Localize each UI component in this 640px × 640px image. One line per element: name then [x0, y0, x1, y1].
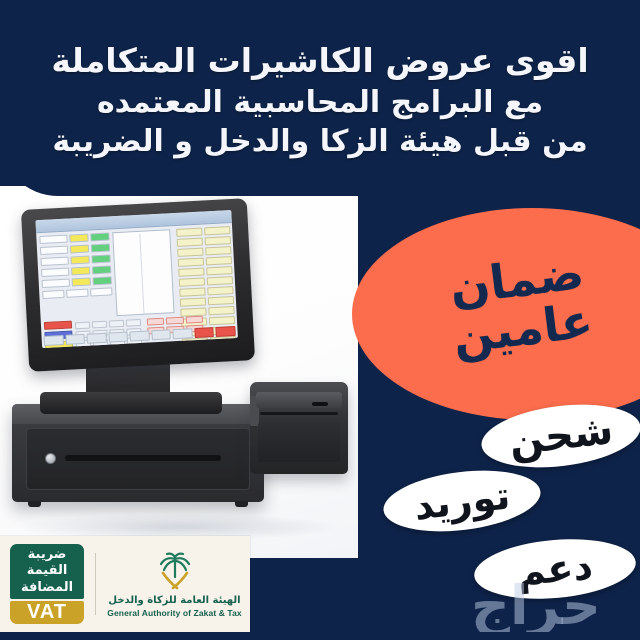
service-badge-shipping-label: شحن [507, 407, 616, 465]
pos-touchscreen-terminal [21, 198, 255, 372]
site-watermark: حراج [432, 576, 640, 634]
bottom-strip [0, 632, 640, 640]
vat-zatca-card: ضريبة القيمة المضافة VAT [0, 536, 250, 632]
advertisement-canvas: اقوى عروض الكاشيرات المتكاملة مع البرامج… [0, 0, 640, 640]
headline-line-2: مع البرامج المحاسبية المعتمده [97, 87, 543, 119]
pos-receipt-panel [112, 229, 174, 316]
product-photo [0, 186, 358, 558]
printer-front-face [258, 422, 340, 462]
zatca-arabic-name: الهيئة العامة للزكاة والدخل [108, 595, 240, 606]
zatca-english-name: General Authority of Zakat & Tax [107, 608, 242, 618]
drawer-front-face [26, 428, 250, 490]
thermal-receipt-printer [250, 382, 348, 474]
warranty-badge: ضمان عامين [395, 208, 640, 403]
vat-arabic-line-2: القيمة [27, 563, 68, 579]
vat-card-divider [95, 553, 96, 615]
headline-banner: اقوى عروض الكاشيرات المتكاملة مع البرامج… [0, 0, 640, 196]
printer-feed-button [312, 402, 328, 406]
vat-arabic-block: ضريبة القيمة المضافة [10, 544, 84, 599]
service-badge-supply-label: توريد [412, 473, 513, 528]
drawer-lock-icon [45, 453, 56, 464]
vat-logo: ضريبة القيمة المضافة VAT [10, 544, 84, 624]
monitor-base [40, 392, 222, 414]
vat-arabic-line-1: ضريبة [28, 547, 67, 563]
warranty-line-2: عامين [450, 297, 595, 363]
headline-line-1: اقوى عروض الكاشيرات المتكاملة [51, 44, 588, 79]
vat-latin-block: VAT [10, 601, 84, 624]
drawer-foot-left [28, 501, 41, 507]
drawer-slot [65, 455, 221, 461]
vat-arabic-line-3: المضافة [21, 580, 73, 596]
pos-screen [35, 210, 237, 348]
pos-item-list [39, 232, 112, 302]
headline-line-3: من قبل هيئة الزكا والدخل و الضريبة [52, 126, 587, 158]
zatca-logo: الهيئة العامة للزكاة والدخل General Auth… [107, 551, 242, 618]
drawer-foot-right [235, 501, 248, 507]
cash-drawer [12, 404, 264, 502]
printer-tear-bar [260, 412, 338, 415]
vat-latin-label: VAT [27, 601, 67, 624]
printer-lid [256, 392, 342, 408]
palm-tree-swords-icon [147, 551, 203, 593]
